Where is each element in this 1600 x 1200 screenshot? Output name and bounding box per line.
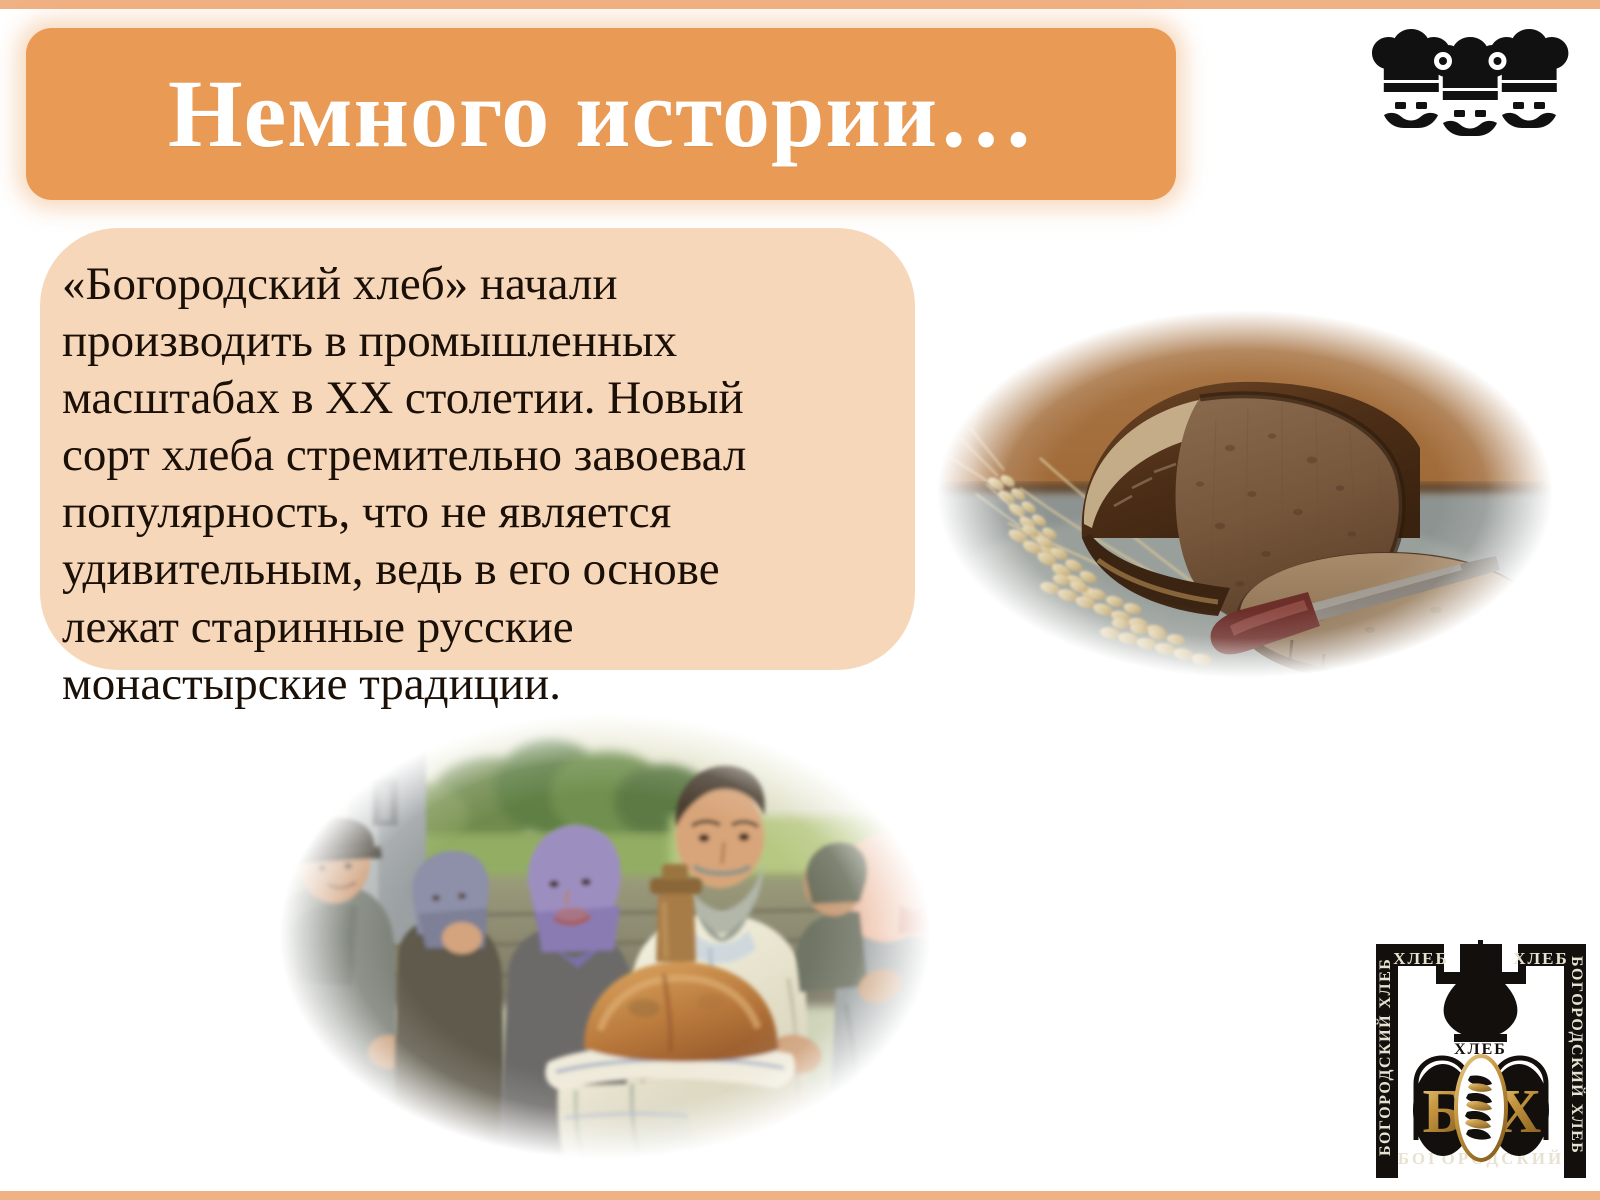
bottom-accent-band bbox=[0, 1191, 1600, 1200]
rye-bread-photo bbox=[900, 288, 1590, 700]
top-accent-band bbox=[0, 0, 1600, 9]
bread-and-salt-painting bbox=[240, 686, 970, 1186]
slide-title-bar: Немного истории… bbox=[26, 28, 1176, 200]
svg-text:БОГОРОДСКИЙ ХЛЕБ: БОГОРОДСКИЙ ХЛЕБ bbox=[1568, 956, 1587, 1154]
logo-top-left-text: ХЛЕБ bbox=[1393, 949, 1449, 968]
chef-left-icon bbox=[1372, 29, 1450, 128]
page-title: Немного истории… bbox=[168, 66, 1035, 162]
logo-ring-left-text: БОГОРОДСКИЙ ХЛЕБ bbox=[1375, 958, 1394, 1156]
slide-canvas: Немного истории… bbox=[0, 0, 1600, 1200]
bogorodsky-hleb-logo: БОГОРОДСКИЙ ХЛЕБ БОГОРОДСКИЙ ХЛЕБ БОГОРО… bbox=[1370, 928, 1592, 1178]
chef-center-icon bbox=[1431, 37, 1509, 136]
logo-ring-right-text: БОГОРОДСКИЙ ХЛЕБ bbox=[1568, 956, 1587, 1154]
svg-text:БОГОРОДСКИЙ ХЛЕБ: БОГОРОДСКИЙ ХЛЕБ bbox=[1375, 958, 1394, 1156]
chef-right-icon bbox=[1490, 29, 1568, 128]
three-chefs-icon bbox=[1354, 18, 1586, 136]
body-text-card: «Богородский хлеб» начали производить в … bbox=[40, 228, 915, 670]
logo-top-right-text: ХЛЕБ bbox=[1513, 949, 1569, 968]
body-text: «Богородский хлеб» начали производить в … bbox=[62, 256, 871, 713]
